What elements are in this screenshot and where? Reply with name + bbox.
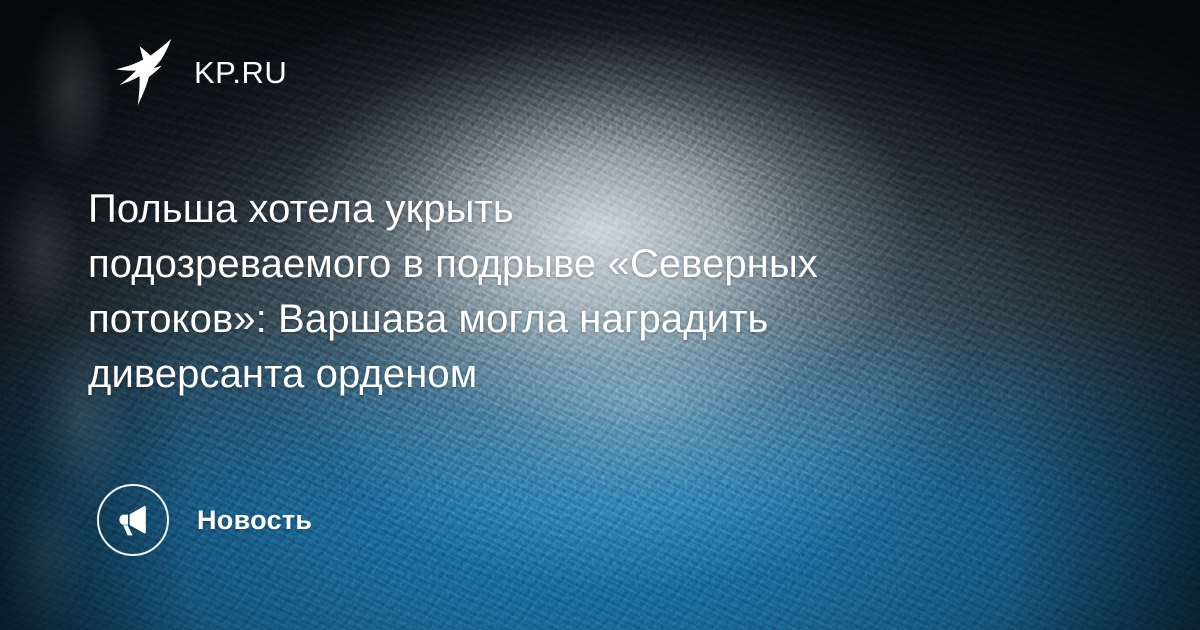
category-badge[interactable]: Новость bbox=[97, 484, 312, 556]
headline-line-3: потоков»: Варшава могла наградить bbox=[88, 292, 1088, 347]
headline-line-2: подозреваемого в подрыве «Северных bbox=[88, 237, 1088, 292]
share-card: KP.RU Польша хотела укрыть подозреваемог… bbox=[0, 0, 1200, 630]
megaphone-icon bbox=[115, 502, 151, 538]
headline: Польша хотела укрыть подозреваемого в по… bbox=[88, 182, 1088, 402]
card-content: KP.RU Польша хотела укрыть подозреваемог… bbox=[0, 0, 1200, 630]
brand-logo[interactable]: KP.RU bbox=[110, 38, 287, 106]
badge-icon-circle bbox=[97, 484, 169, 556]
badge-label: Новость bbox=[197, 507, 312, 534]
swallow-bird-icon bbox=[110, 38, 172, 106]
headline-line-4: диверсанта орденом bbox=[88, 347, 1088, 402]
brand-wordmark: KP.RU bbox=[194, 57, 287, 88]
headline-line-1: Польша хотела укрыть bbox=[88, 182, 1088, 237]
